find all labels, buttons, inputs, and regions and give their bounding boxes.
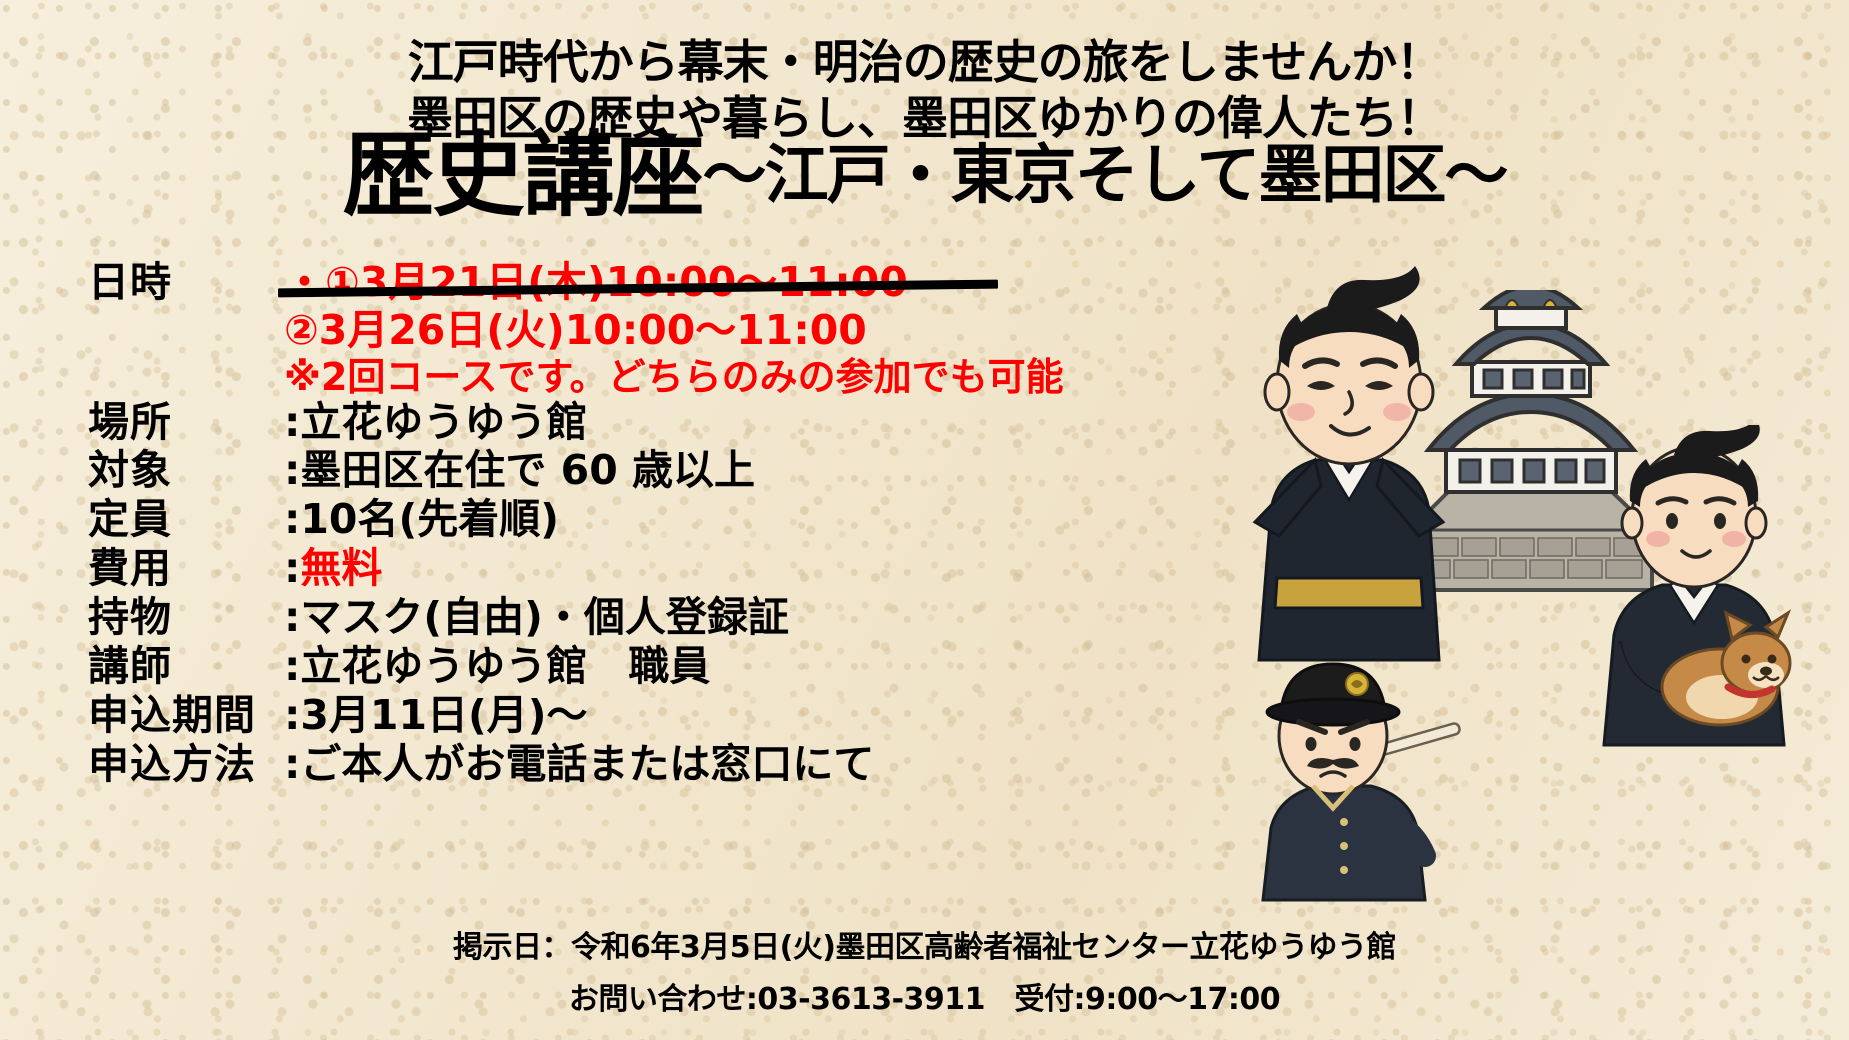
detail-value-fee: 無料 xyxy=(300,546,382,592)
detail-label-bring: 持物 xyxy=(88,595,284,641)
detail-row-apply-method: 申込方法 :ご本人がお電話または窓口にて xyxy=(88,742,1118,788)
detail-row-instructor: 講師 :立花ゆうゆう館 職員 xyxy=(88,644,1118,690)
subtitle-text: 〜江戸・東京そして墨田区〜 xyxy=(702,139,1506,213)
datetime-label: 日時 xyxy=(88,258,284,306)
samurai-illustration xyxy=(1215,260,1475,684)
young-samurai-dog-illustration xyxy=(1570,425,1820,759)
detail-value-apply-period: :3月11日(月)〜 xyxy=(284,693,587,739)
detail-label-target: 対象 xyxy=(88,448,284,494)
datetime-note: ※2回コースです。どちらのみの参加でも可能 xyxy=(284,355,1064,400)
detail-label-fee: 費用 xyxy=(88,546,284,592)
details-list: 日時 ・①3月21日(木)10:00～11:00 ②3月26日(火)10:00～… xyxy=(88,258,1118,791)
detail-row-bring: 持物 :マスク(自由)・個人登録証 xyxy=(88,595,1118,641)
footer-block: 掲示日：令和6年3月5日(火)墨田区高齢者福祉センター立花ゆうゆう館 お問い合わ… xyxy=(0,922,1849,1018)
detail-label-place: 場所 xyxy=(88,400,284,446)
poster-canvas: 江戸時代から幕末・明治の歴史の旅をしませんか！ 墨田区の歴史や暮らし、墨田区ゆか… xyxy=(0,0,1849,1040)
datetime-block: 日時 ・①3月21日(木)10:00～11:00 ②3月26日(火)10:00～… xyxy=(88,258,1118,400)
detail-value-fee-colon: : xyxy=(284,546,300,592)
detail-label-capacity: 定員 xyxy=(88,497,284,543)
detail-row-capacity: 定員 :10名(先着順) xyxy=(88,497,1118,543)
datetime-option-2: ②3月26日(火)10:00～11:00 xyxy=(284,306,867,354)
detail-row-apply-period: 申込期間 :3月11日(月)〜 xyxy=(88,693,1118,739)
footer-contact: お問い合わせ:03-3613-3911 受付:9:00～17:00 xyxy=(0,974,1849,1018)
detail-value-capacity: :10名(先着順) xyxy=(284,497,559,543)
detail-row-place: 場所 :立花ゆうゆう館 xyxy=(88,400,1118,446)
detail-label-instructor: 講師 xyxy=(88,644,284,690)
detail-value-place: :立花ゆうゆう館 xyxy=(284,400,587,446)
detail-label-apply-period: 申込期間 xyxy=(88,693,284,739)
detail-label-apply-method: 申込方法 xyxy=(88,742,284,788)
footer-posting-date: 掲示日：令和6年3月5日(火)墨田区高齢者福祉センター立花ゆうゆう館 xyxy=(0,922,1849,966)
main-title-text: 歴史講座 xyxy=(342,122,702,229)
castle-illustration xyxy=(1380,290,1680,614)
detail-value-apply-method: :ご本人がお電話または窓口にて xyxy=(284,742,874,788)
detail-row-target: 対象 :墨田区在住で 60 歳以上 xyxy=(88,448,1118,494)
detail-value-target: :墨田区在住で 60 歳以上 xyxy=(284,448,755,494)
detail-value-instructor: :立花ゆうゆう館 職員 xyxy=(284,644,710,690)
page-title: 歴史講座〜江戸・東京そして墨田区〜 xyxy=(0,130,1849,222)
detail-value-bring: :マスク(自由)・個人登録証 xyxy=(284,595,789,641)
detail-row-fee: 費用 :無料 xyxy=(88,546,1118,592)
meiji-officer-illustration xyxy=(1225,650,1465,914)
datetime-row-note: ※2回コースです。どちらのみの参加でも可能 xyxy=(88,355,1118,400)
datetime-row-2: ②3月26日(火)10:00～11:00 xyxy=(88,306,1118,354)
